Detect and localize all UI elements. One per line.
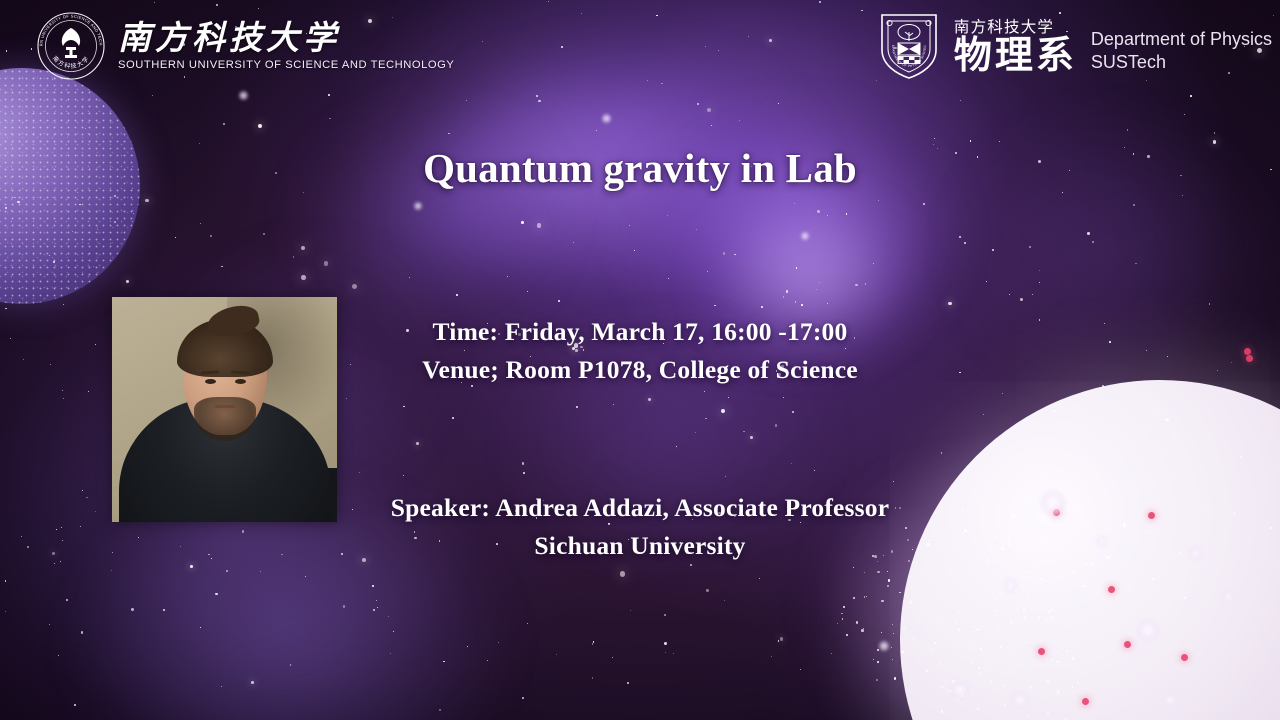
star	[487, 660, 488, 661]
physics-department-english-name: Department of Physics SUSTech	[1091, 28, 1272, 74]
star	[448, 133, 450, 135]
star	[175, 237, 176, 238]
star	[647, 80, 648, 81]
star	[548, 1, 550, 3]
star	[376, 600, 377, 601]
star	[853, 567, 854, 568]
star	[1182, 195, 1183, 196]
star	[819, 282, 820, 283]
star	[131, 608, 134, 611]
bokeh-light	[239, 91, 248, 100]
star	[1002, 393, 1004, 395]
star	[409, 277, 410, 278]
star	[1032, 294, 1034, 296]
star	[5, 611, 6, 612]
star	[892, 659, 893, 660]
star	[707, 271, 708, 272]
poster-title: Quantum gravity in Lab	[0, 144, 1280, 192]
star	[707, 108, 711, 112]
star	[522, 697, 524, 699]
nebula-cloud	[300, 110, 560, 330]
star	[876, 80, 877, 81]
star	[627, 682, 629, 684]
star	[324, 261, 328, 265]
star	[1127, 129, 1129, 131]
star	[200, 223, 201, 224]
star	[6, 50, 8, 52]
star	[5, 580, 7, 582]
star	[778, 103, 779, 104]
star	[328, 94, 330, 96]
star	[791, 463, 792, 464]
star	[1135, 263, 1137, 265]
star	[558, 300, 560, 302]
star	[648, 398, 651, 401]
event-venue: Venue; Room P1078, College of Science	[0, 351, 1280, 389]
speaker-name-title: Speaker: Andrea Addazi, Associate Profes…	[0, 489, 1280, 527]
star	[817, 210, 820, 213]
physics-department-logo: DEPARTMENT OF PHYSICS SUSTECH 南方科技大学 物理系…	[878, 10, 1272, 85]
star	[696, 229, 697, 230]
star	[861, 10, 863, 12]
star	[31, 48, 33, 50]
star	[507, 276, 508, 277]
star	[556, 654, 557, 655]
star	[416, 442, 419, 445]
speaker-details: Speaker: Andrea Addazi, Associate Profes…	[0, 489, 1280, 565]
star	[759, 578, 760, 579]
star	[346, 398, 347, 399]
star	[221, 686, 222, 687]
sustech-chinese-name: 南方科技大学	[118, 21, 454, 58]
star	[74, 704, 76, 706]
star	[216, 4, 218, 6]
star	[352, 284, 357, 289]
star	[521, 221, 524, 224]
star	[152, 95, 153, 96]
star	[301, 275, 306, 280]
star	[1039, 270, 1040, 271]
star	[523, 472, 525, 474]
star	[443, 661, 445, 663]
star	[894, 677, 897, 680]
star	[780, 637, 783, 640]
star	[581, 13, 582, 14]
star	[899, 592, 900, 593]
star	[876, 679, 878, 681]
star	[864, 596, 865, 597]
star	[842, 618, 843, 619]
star	[258, 124, 262, 128]
star	[941, 452, 943, 454]
star	[145, 199, 149, 203]
star	[705, 46, 707, 48]
star	[81, 631, 84, 634]
speaker-affiliation: Sichuan University	[0, 527, 1280, 565]
star	[843, 606, 845, 608]
star	[1029, 246, 1031, 248]
star	[1009, 294, 1010, 295]
star	[739, 120, 740, 121]
star	[888, 579, 890, 581]
star	[750, 436, 753, 439]
star	[711, 125, 712, 126]
star	[891, 647, 892, 648]
star	[1214, 132, 1216, 134]
star	[986, 281, 987, 282]
sustech-university-logo: SOUTHERN UNIVERSITY OF SCIENCE AND TECHN…	[36, 11, 454, 81]
star	[63, 398, 64, 399]
star	[223, 123, 225, 125]
star	[258, 8, 259, 9]
star	[498, 642, 499, 643]
star	[856, 621, 859, 624]
star	[290, 664, 292, 666]
star	[959, 236, 961, 238]
star	[743, 431, 744, 432]
photo-mouth	[215, 405, 235, 408]
star	[656, 15, 657, 16]
star	[863, 628, 864, 629]
star	[88, 391, 90, 393]
star	[522, 462, 525, 465]
star	[210, 235, 212, 237]
sustech-seal-icon: SOUTHERN UNIVERSITY OF SCIENCE AND TECHN…	[36, 11, 106, 81]
star	[154, 2, 155, 3]
star	[1092, 241, 1094, 243]
star	[664, 642, 667, 645]
star	[5, 308, 7, 310]
star	[714, 305, 715, 306]
star	[215, 593, 218, 596]
star	[934, 138, 935, 139]
star	[456, 294, 458, 296]
star	[846, 634, 848, 636]
star	[1087, 232, 1090, 235]
star	[728, 397, 729, 398]
event-time: Time: Friday, March 17, 16:00 -17:00	[0, 313, 1280, 351]
star	[620, 571, 625, 576]
bokeh-light	[879, 641, 889, 651]
star	[855, 284, 858, 287]
physics-university-chinese-name: 南方科技大学	[954, 19, 1077, 36]
star	[221, 266, 222, 267]
star	[846, 213, 848, 215]
star	[887, 585, 889, 587]
star	[771, 656, 772, 657]
star	[576, 406, 578, 408]
star	[1184, 114, 1185, 115]
star	[706, 589, 709, 592]
star	[527, 291, 528, 292]
star	[814, 470, 815, 471]
star	[748, 36, 749, 37]
star	[796, 267, 797, 268]
star	[725, 476, 726, 477]
star	[388, 616, 390, 618]
star	[795, 301, 797, 303]
star	[877, 571, 879, 573]
star	[878, 200, 879, 201]
star	[466, 100, 467, 101]
star	[200, 627, 201, 628]
star	[482, 41, 483, 42]
star	[452, 417, 454, 419]
star	[1273, 15, 1274, 16]
star	[664, 614, 667, 617]
star	[536, 95, 538, 97]
star	[593, 641, 595, 643]
star	[66, 599, 68, 601]
star	[801, 304, 803, 306]
star	[960, 100, 961, 101]
star	[263, 233, 265, 235]
star	[561, 46, 563, 48]
star	[893, 481, 894, 482]
physics-department-chinese-name: 物理系	[954, 37, 1077, 76]
star	[827, 303, 828, 304]
star	[877, 661, 879, 663]
seminar-poster: SOUTHERN UNIVERSITY OF SCIENCE AND TECHN…	[0, 0, 1280, 720]
star	[923, 203, 925, 205]
star	[372, 585, 374, 587]
star	[873, 659, 875, 661]
star	[301, 246, 306, 251]
star	[705, 418, 707, 420]
star	[665, 652, 666, 653]
star	[1209, 303, 1210, 304]
star	[970, 140, 972, 142]
star	[403, 475, 404, 476]
star	[111, 570, 112, 571]
star	[792, 411, 794, 413]
star	[260, 571, 261, 572]
star	[251, 681, 254, 684]
star	[892, 624, 893, 625]
star	[800, 669, 801, 670]
physics-department-shield-icon: DEPARTMENT OF PHYSICS SUSTECH	[878, 10, 940, 85]
star	[893, 633, 894, 634]
star	[697, 103, 699, 105]
sustech-english-name: SOUTHERN UNIVERSITY OF SCIENCE AND TECHN…	[118, 59, 454, 71]
star	[718, 50, 719, 51]
star	[126, 280, 130, 284]
star	[873, 263, 874, 264]
star	[783, 397, 784, 398]
star	[864, 572, 865, 573]
star	[629, 225, 631, 227]
star	[439, 709, 441, 711]
star	[634, 250, 635, 251]
event-details: Time: Friday, March 17, 16:00 -17:00 Ven…	[0, 313, 1280, 389]
star	[723, 252, 726, 255]
star	[769, 39, 772, 42]
star	[1039, 282, 1040, 283]
star	[596, 130, 597, 131]
star	[343, 605, 345, 607]
star	[837, 623, 838, 624]
star	[853, 597, 855, 599]
star	[359, 472, 360, 473]
department-en-line1: Department of Physics	[1091, 28, 1272, 51]
star	[816, 289, 817, 290]
star	[612, 657, 613, 658]
star	[467, 646, 468, 647]
star	[62, 390, 64, 392]
star	[983, 414, 984, 415]
star	[163, 609, 165, 611]
star	[865, 283, 867, 285]
bokeh-light	[801, 232, 809, 240]
star	[775, 424, 778, 427]
star	[881, 600, 884, 603]
star	[881, 632, 882, 633]
star	[783, 296, 784, 297]
star	[794, 203, 795, 204]
star	[704, 391, 705, 392]
star	[992, 249, 994, 251]
star	[724, 600, 725, 601]
star	[827, 215, 828, 216]
bokeh-light	[602, 114, 611, 123]
star	[1133, 204, 1135, 206]
star	[1020, 298, 1023, 301]
star	[964, 242, 966, 244]
star	[877, 649, 879, 651]
star	[329, 118, 330, 119]
star	[592, 677, 594, 679]
star	[190, 565, 193, 568]
star	[377, 607, 378, 608]
star	[841, 613, 843, 615]
star	[734, 254, 736, 256]
star	[573, 242, 574, 243]
star	[630, 610, 631, 611]
star	[668, 278, 669, 279]
star	[613, 404, 614, 405]
star	[861, 629, 864, 632]
bokeh-light	[414, 202, 422, 210]
star	[537, 223, 542, 228]
star	[373, 609, 375, 611]
star	[538, 100, 540, 102]
star	[673, 653, 674, 654]
star	[58, 655, 59, 656]
star	[661, 83, 663, 85]
star	[393, 631, 394, 632]
star	[303, 192, 304, 193]
star	[403, 406, 405, 408]
star	[778, 640, 780, 642]
star	[226, 570, 228, 572]
star	[676, 446, 677, 447]
star	[305, 576, 306, 577]
star	[887, 571, 889, 573]
star	[999, 141, 1000, 142]
star	[866, 596, 867, 597]
star	[761, 306, 763, 308]
star	[667, 215, 668, 216]
star	[819, 1, 821, 3]
star	[527, 623, 529, 625]
star	[831, 653, 832, 654]
star	[721, 409, 726, 414]
star	[390, 653, 391, 654]
star	[592, 643, 593, 644]
star	[786, 290, 789, 293]
department-en-line2: SUSTech	[1091, 51, 1272, 74]
star	[695, 432, 696, 433]
star	[49, 624, 50, 625]
star	[293, 256, 295, 258]
star	[63, 304, 65, 306]
star	[948, 302, 952, 306]
star	[1190, 95, 1192, 97]
